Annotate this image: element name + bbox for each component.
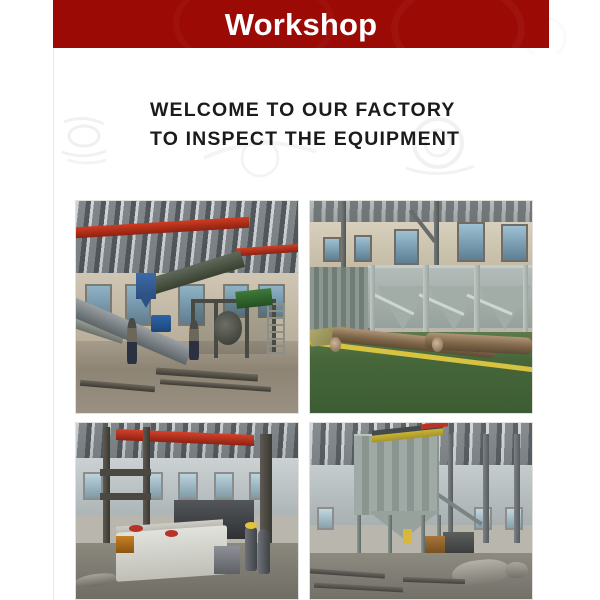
- page-header-banner: Workshop: [53, 0, 549, 48]
- photo-steel-hoppers[interactable]: Row of grey steel hopper silos on a fram…: [309, 200, 533, 414]
- gallery-row-2: Workshop bay with red overhead crane bea…: [75, 422, 533, 600]
- photo-workshop-overview[interactable]: Factory workshop interior with overhead …: [75, 200, 299, 414]
- headline-line-1: WELCOME TO OUR FACTORY: [150, 96, 460, 125]
- content-left-rule: [53, 48, 54, 600]
- page-title: Workshop: [225, 9, 378, 40]
- headline-line-2: TO INSPECT THE EQUIPMENT: [150, 125, 460, 154]
- photo-gallery: Factory workshop interior with overhead …: [75, 200, 533, 600]
- gallery-row-1: Factory workshop interior with overhead …: [75, 200, 533, 414]
- photo-vibrating-screen-machinery[interactable]: Workshop bay with red overhead crane bea…: [75, 422, 299, 600]
- logo-watermark-left: [58, 108, 136, 168]
- headline-block: WELCOME TO OUR FACTORY TO INSPECT THE EQ…: [150, 96, 460, 154]
- workshop-page: Workshop WELCOME TO OUR FACTORY TO INSPE…: [0, 0, 600, 600]
- photo-dust-collector[interactable]: Large grey pulse bag dust collector unit…: [309, 422, 533, 600]
